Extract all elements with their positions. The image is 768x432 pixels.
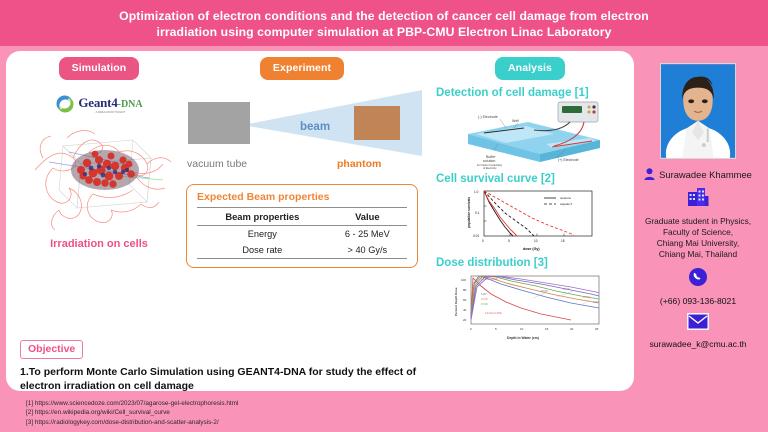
phantom-shape [354, 106, 400, 140]
detection-heading: Detection of cell damage [1] [430, 87, 589, 99]
gel-label-neg-electrode: (-) Electrode [478, 115, 498, 119]
annot-right-2: 6 MV [593, 301, 599, 304]
author-sidebar: Surawadee Khammee Graduate student in Ph… [634, 51, 762, 391]
annot-18mv: 18 MV [541, 290, 548, 293]
annot-right-1: 10 MV [583, 296, 590, 299]
cell-doserate-label: Dose rate [197, 242, 328, 259]
affiliation-line-4: Chiang Mai, Thailand [636, 249, 760, 260]
cell-energy-label: Energy [197, 226, 328, 243]
dose-heading: Dose distribution [3] [430, 257, 548, 269]
x-tick-5: 5 [495, 327, 497, 331]
annot-10mv: 10 MV [481, 298, 488, 301]
gel-label-well: Well [512, 119, 519, 123]
person-icon [644, 168, 655, 180]
x-axis-label: dose (Gy) [523, 247, 540, 251]
experiment-column: Experiment beam vacuum tube phantom Expe… [178, 57, 426, 268]
beam-table-title: Expected Beam properties [197, 191, 407, 203]
annot-15mv: 15 MV [481, 303, 488, 306]
table-header-row: Beam properties Value [197, 208, 407, 226]
annot-6mv: 6 MV [481, 293, 487, 296]
x-tick-10: 10 [520, 327, 524, 331]
analysis-column: Analysis Detection of cell damage [1] [430, 57, 630, 342]
phone-icon [688, 267, 708, 287]
geant4-swirl-icon [55, 94, 75, 114]
analysis-badge: Analysis [495, 57, 565, 80]
x-tick-0: 0 [482, 239, 484, 243]
x-tick-15: 15 [561, 239, 565, 243]
experiment-badge: Experiment [260, 57, 344, 80]
references-footer: [1] https://www.sciencedoze.com/2023/07/… [0, 396, 768, 432]
y-tick-60: 60 [463, 298, 467, 302]
reference-item[interactable]: [2] https://en.wikipedia.org/wiki/Cell_s… [26, 408, 768, 417]
vacuum-tube-shape [188, 102, 250, 144]
phone-icon-wrap [688, 267, 708, 292]
gel-electrophoresis-image: (-) Electrode Well (+) Electrode Buffer … [450, 100, 610, 170]
particle-track-image [23, 118, 175, 236]
x-tick-5: 5 [508, 239, 510, 243]
annot-1mm-cu: 1.0 mm Cu HVL [481, 278, 499, 281]
affiliation-line-1: Graduate student in Physics, [636, 216, 760, 227]
annot-3mm-cu: 3.0 mm Cu HVL [485, 312, 503, 315]
y-tick-80: 80 [463, 288, 467, 292]
beam-diagram-labels: vacuum tube phantom [182, 158, 422, 174]
y-tick-0.01: 0.01 [473, 234, 479, 238]
col-header-value: Value [328, 208, 407, 226]
simulation-column: Simulation Geant4-DNA A SIMULATION TOOLK… [14, 57, 184, 250]
dose-x-axis-label: Depth in Water (cm) [507, 336, 539, 340]
col-header-property: Beam properties [197, 208, 328, 226]
y-axis-label: population survivals [467, 197, 471, 228]
affiliation-block: Graduate student in Physics, Faculty of … [636, 216, 760, 260]
legend-capsule: capsule X [560, 202, 572, 206]
poster-header: Optimization of electron conditions and … [0, 0, 768, 46]
x-tick-25: 25 [595, 327, 599, 331]
beam-label-text: beam [300, 121, 330, 133]
reference-item[interactable]: [3] https://radiologykey.com/dose-distri… [26, 418, 768, 427]
legend-neutrons: neutrons [560, 196, 571, 200]
objective-badge: Objective [20, 340, 83, 359]
survival-heading: Cell survival curve [2] [430, 173, 555, 185]
dna-cluster [71, 150, 139, 190]
gel-label-buffer2: solution [483, 159, 495, 163]
geant4-logo-text: Geant4-DNA A SIMULATION TOOLKIT [78, 94, 142, 114]
building-icon-wrap [687, 187, 709, 212]
table-row: Dose rate > 40 Gy/s [197, 242, 407, 259]
geant4-dna-logo: Geant4-DNA A SIMULATION TOOLKIT [55, 94, 142, 114]
y-tick-20: 20 [463, 318, 467, 322]
simulation-caption: Irradiation on cells [50, 238, 148, 250]
simulation-badge: Simulation [59, 57, 140, 80]
y-tick-1: 1.0 [474, 190, 479, 194]
email-address[interactable]: surawadee_k@cmu.ac.th [649, 339, 746, 349]
content-card: Simulation Geant4-DNA A SIMULATION TOOLK… [6, 51, 634, 391]
annot-25mv: 25 MV [563, 288, 570, 291]
phone-number[interactable]: (+66) 093-136-8021 [660, 296, 736, 306]
geant4-wordmark: Geant4 [78, 95, 117, 110]
building-icon [687, 187, 709, 207]
dose-distribution-chart: 100 80 60 40 20 0 5 10 15 20 25 Depth in… [445, 270, 615, 342]
x-tick-20: 20 [570, 327, 574, 331]
author-name: Surawadee Khammee [659, 169, 752, 180]
gel-label-pos-electrode: (+) Electrode [558, 158, 579, 162]
table-row: Energy 6 - 25 MeV [197, 226, 407, 243]
y-tick-0.1: 0.1 [475, 211, 480, 215]
x-tick-10: 10 [534, 239, 538, 243]
beam-properties-table-box: Expected Beam properties Beam properties… [186, 184, 418, 268]
beam-properties-table: Beam properties Value Energy 6 - 25 MeV … [197, 207, 407, 259]
dna-wordmark: -DNA [118, 99, 143, 110]
email-icon [687, 313, 709, 330]
beam-setup-diagram: beam [182, 86, 422, 164]
profile-photo [660, 63, 736, 159]
affiliation-line-2: Faculty of Science, [636, 227, 760, 238]
x-tick-0: 0 [470, 327, 472, 331]
reference-item[interactable]: [1] https://www.sciencedoze.com/2023/07/… [26, 399, 768, 408]
email-icon-wrap [687, 313, 709, 335]
poster-body: Simulation Geant4-DNA A SIMULATION TOOLK… [0, 46, 768, 396]
poster-title-line-2: irradiation using computer simulation at… [156, 24, 611, 40]
y-tick-40: 40 [463, 308, 467, 312]
objective-item-1: 1.To perform Monte Carlo Simulation usin… [20, 366, 440, 393]
vacuum-tube-label: vacuum tube [187, 158, 247, 170]
cell-survival-curve-chart: 1.0 0.1 0.01 0 5 10 15 dose (Gy) populat… [460, 186, 600, 254]
author-name-row: Surawadee Khammee [644, 168, 752, 180]
poster-title-line-1: Optimization of electron conditions and … [119, 8, 649, 24]
cell-energy-value: 6 - 25 MeV [328, 226, 407, 243]
dose-y-axis-label: Percent Depth Dose [454, 287, 458, 316]
x-tick-15: 15 [545, 327, 549, 331]
cell-doserate-value: > 40 Gy/s [328, 242, 407, 259]
affiliation-line-3: Chiang Mai University, [636, 238, 760, 249]
phantom-label: phantom [337, 158, 381, 170]
y-tick-100: 100 [461, 278, 466, 282]
gel-label-buffer-sub2: of Electricity [483, 167, 497, 170]
